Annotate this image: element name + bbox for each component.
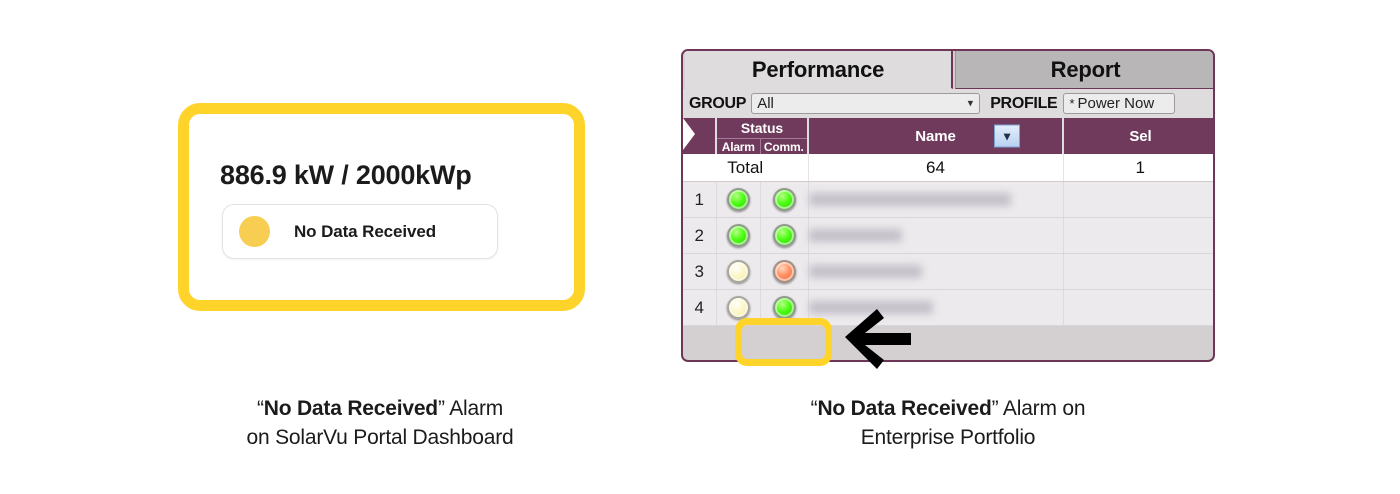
comm-status-cell bbox=[760, 182, 808, 218]
alarm-status-cell bbox=[716, 254, 760, 290]
caption-left-suffix: Alarm bbox=[449, 397, 503, 420]
group-select-value: All bbox=[757, 95, 774, 112]
flag-icon bbox=[683, 118, 695, 150]
select-cell[interactable] bbox=[1063, 182, 1215, 218]
status-group-header: Status bbox=[716, 118, 808, 139]
alarm-status-cell bbox=[716, 290, 760, 326]
led-yellow-icon bbox=[727, 260, 750, 283]
name-column-header: Name ▼ bbox=[808, 118, 1063, 154]
tab-strip: Performance Report bbox=[683, 51, 1213, 89]
row-number: 1 bbox=[683, 182, 716, 218]
select-column-header: Sel bbox=[1063, 118, 1215, 154]
select-cell[interactable] bbox=[1063, 254, 1215, 290]
caption-right: “No Data Received” Alarm on Enterprise P… bbox=[748, 394, 1148, 452]
caption-right-line2: Enterprise Portfolio bbox=[861, 426, 1036, 449]
dashboard-card: 886.9 kW / 2000kWp No Data Received bbox=[189, 114, 574, 300]
caption-right-line1: “No Data Received” Alarm on bbox=[811, 397, 1086, 420]
group-select[interactable]: All ▾ bbox=[751, 93, 980, 114]
table-row[interactable]: 2 bbox=[683, 218, 1215, 254]
select-cell[interactable] bbox=[1063, 290, 1215, 326]
led-green-icon bbox=[727, 224, 750, 247]
table-row[interactable]: 1 bbox=[683, 182, 1215, 218]
select-cell[interactable] bbox=[1063, 218, 1215, 254]
tab-performance[interactable]: Performance bbox=[685, 51, 953, 89]
flag-column-header bbox=[683, 118, 716, 154]
filter-row: GROUP All ▾ PROFILE * Power Now bbox=[683, 89, 1213, 118]
group-label: GROUP bbox=[689, 95, 746, 113]
row-number: 3 bbox=[683, 254, 716, 290]
profile-select[interactable]: * Power Now bbox=[1063, 93, 1175, 114]
caption-left-quoted: No Data Received bbox=[264, 397, 438, 420]
status-badge[interactable]: No Data Received bbox=[222, 204, 498, 259]
tab-report[interactable]: Report bbox=[955, 51, 1215, 89]
profile-label: PROFILE bbox=[990, 95, 1057, 113]
comm-column-header: Comm. bbox=[760, 139, 808, 155]
caption-left: “No Data Received” Alarm on SolarVu Port… bbox=[180, 394, 580, 452]
led-green-icon bbox=[773, 296, 796, 319]
led-green-icon bbox=[727, 188, 750, 211]
caption-right-quoted: No Data Received bbox=[817, 397, 991, 420]
total-row: Total 64 1 bbox=[683, 154, 1215, 182]
profile-select-value: Power Now bbox=[1078, 95, 1155, 112]
total-count: 64 bbox=[808, 154, 1063, 182]
row-number: 4 bbox=[683, 290, 716, 326]
chevron-down-icon[interactable]: ▼ bbox=[994, 125, 1020, 148]
caption-left-line1: “No Data Received” Alarm bbox=[257, 397, 503, 420]
caption-right-suffix: Alarm on bbox=[1003, 397, 1085, 420]
enterprise-portfolio-panel: Performance Report GROUP All ▾ PROFILE *… bbox=[681, 49, 1215, 362]
alarm-status-cell bbox=[716, 182, 760, 218]
row-number: 2 bbox=[683, 218, 716, 254]
table-row[interactable]: 3 bbox=[683, 254, 1215, 290]
comm-status-cell bbox=[760, 290, 808, 326]
site-name-cell[interactable] bbox=[808, 182, 1063, 218]
site-name-cell[interactable] bbox=[808, 218, 1063, 254]
comm-status-cell bbox=[760, 218, 808, 254]
led-green-icon bbox=[773, 224, 796, 247]
alarm-status-cell bbox=[716, 218, 760, 254]
profile-star-icon: * bbox=[1069, 96, 1074, 111]
chevron-down-icon: ▾ bbox=[968, 98, 974, 109]
led-orange-icon bbox=[773, 260, 796, 283]
name-column-label: Name bbox=[915, 128, 955, 145]
table-body: Total 64 1 bbox=[683, 154, 1215, 182]
comm-status-cell bbox=[760, 254, 808, 290]
caption-left-line2: on SolarVu Portal Dashboard bbox=[247, 426, 514, 449]
portfolio-table-wrap: Status Name ▼ Sel Alarm Comm. Total 64 1 bbox=[683, 118, 1213, 326]
table-row[interactable]: 4 bbox=[683, 290, 1215, 326]
led-green-icon bbox=[773, 188, 796, 211]
dashboard-card-highlight: 886.9 kW / 2000kWp No Data Received bbox=[178, 103, 585, 311]
total-label: Total bbox=[683, 154, 808, 182]
data-rows: 1234 bbox=[683, 182, 1215, 326]
site-name-cell[interactable] bbox=[808, 254, 1063, 290]
redacted-site-name bbox=[809, 193, 1011, 206]
redacted-site-name bbox=[809, 229, 902, 242]
portfolio-table: Status Name ▼ Sel Alarm Comm. Total 64 1 bbox=[683, 118, 1215, 326]
table-header: Status Name ▼ Sel Alarm Comm. bbox=[683, 118, 1215, 154]
alarm-column-header: Alarm bbox=[716, 139, 760, 155]
led-yellow-icon bbox=[727, 296, 750, 319]
redacted-site-name bbox=[809, 265, 922, 278]
status-badge-label: No Data Received bbox=[294, 222, 436, 242]
total-select-value: 1 bbox=[1063, 154, 1215, 182]
left-arrow-icon bbox=[843, 307, 913, 369]
power-value-text: 886.9 kW / 2000kWp bbox=[220, 160, 472, 191]
status-dot-icon bbox=[239, 216, 270, 247]
